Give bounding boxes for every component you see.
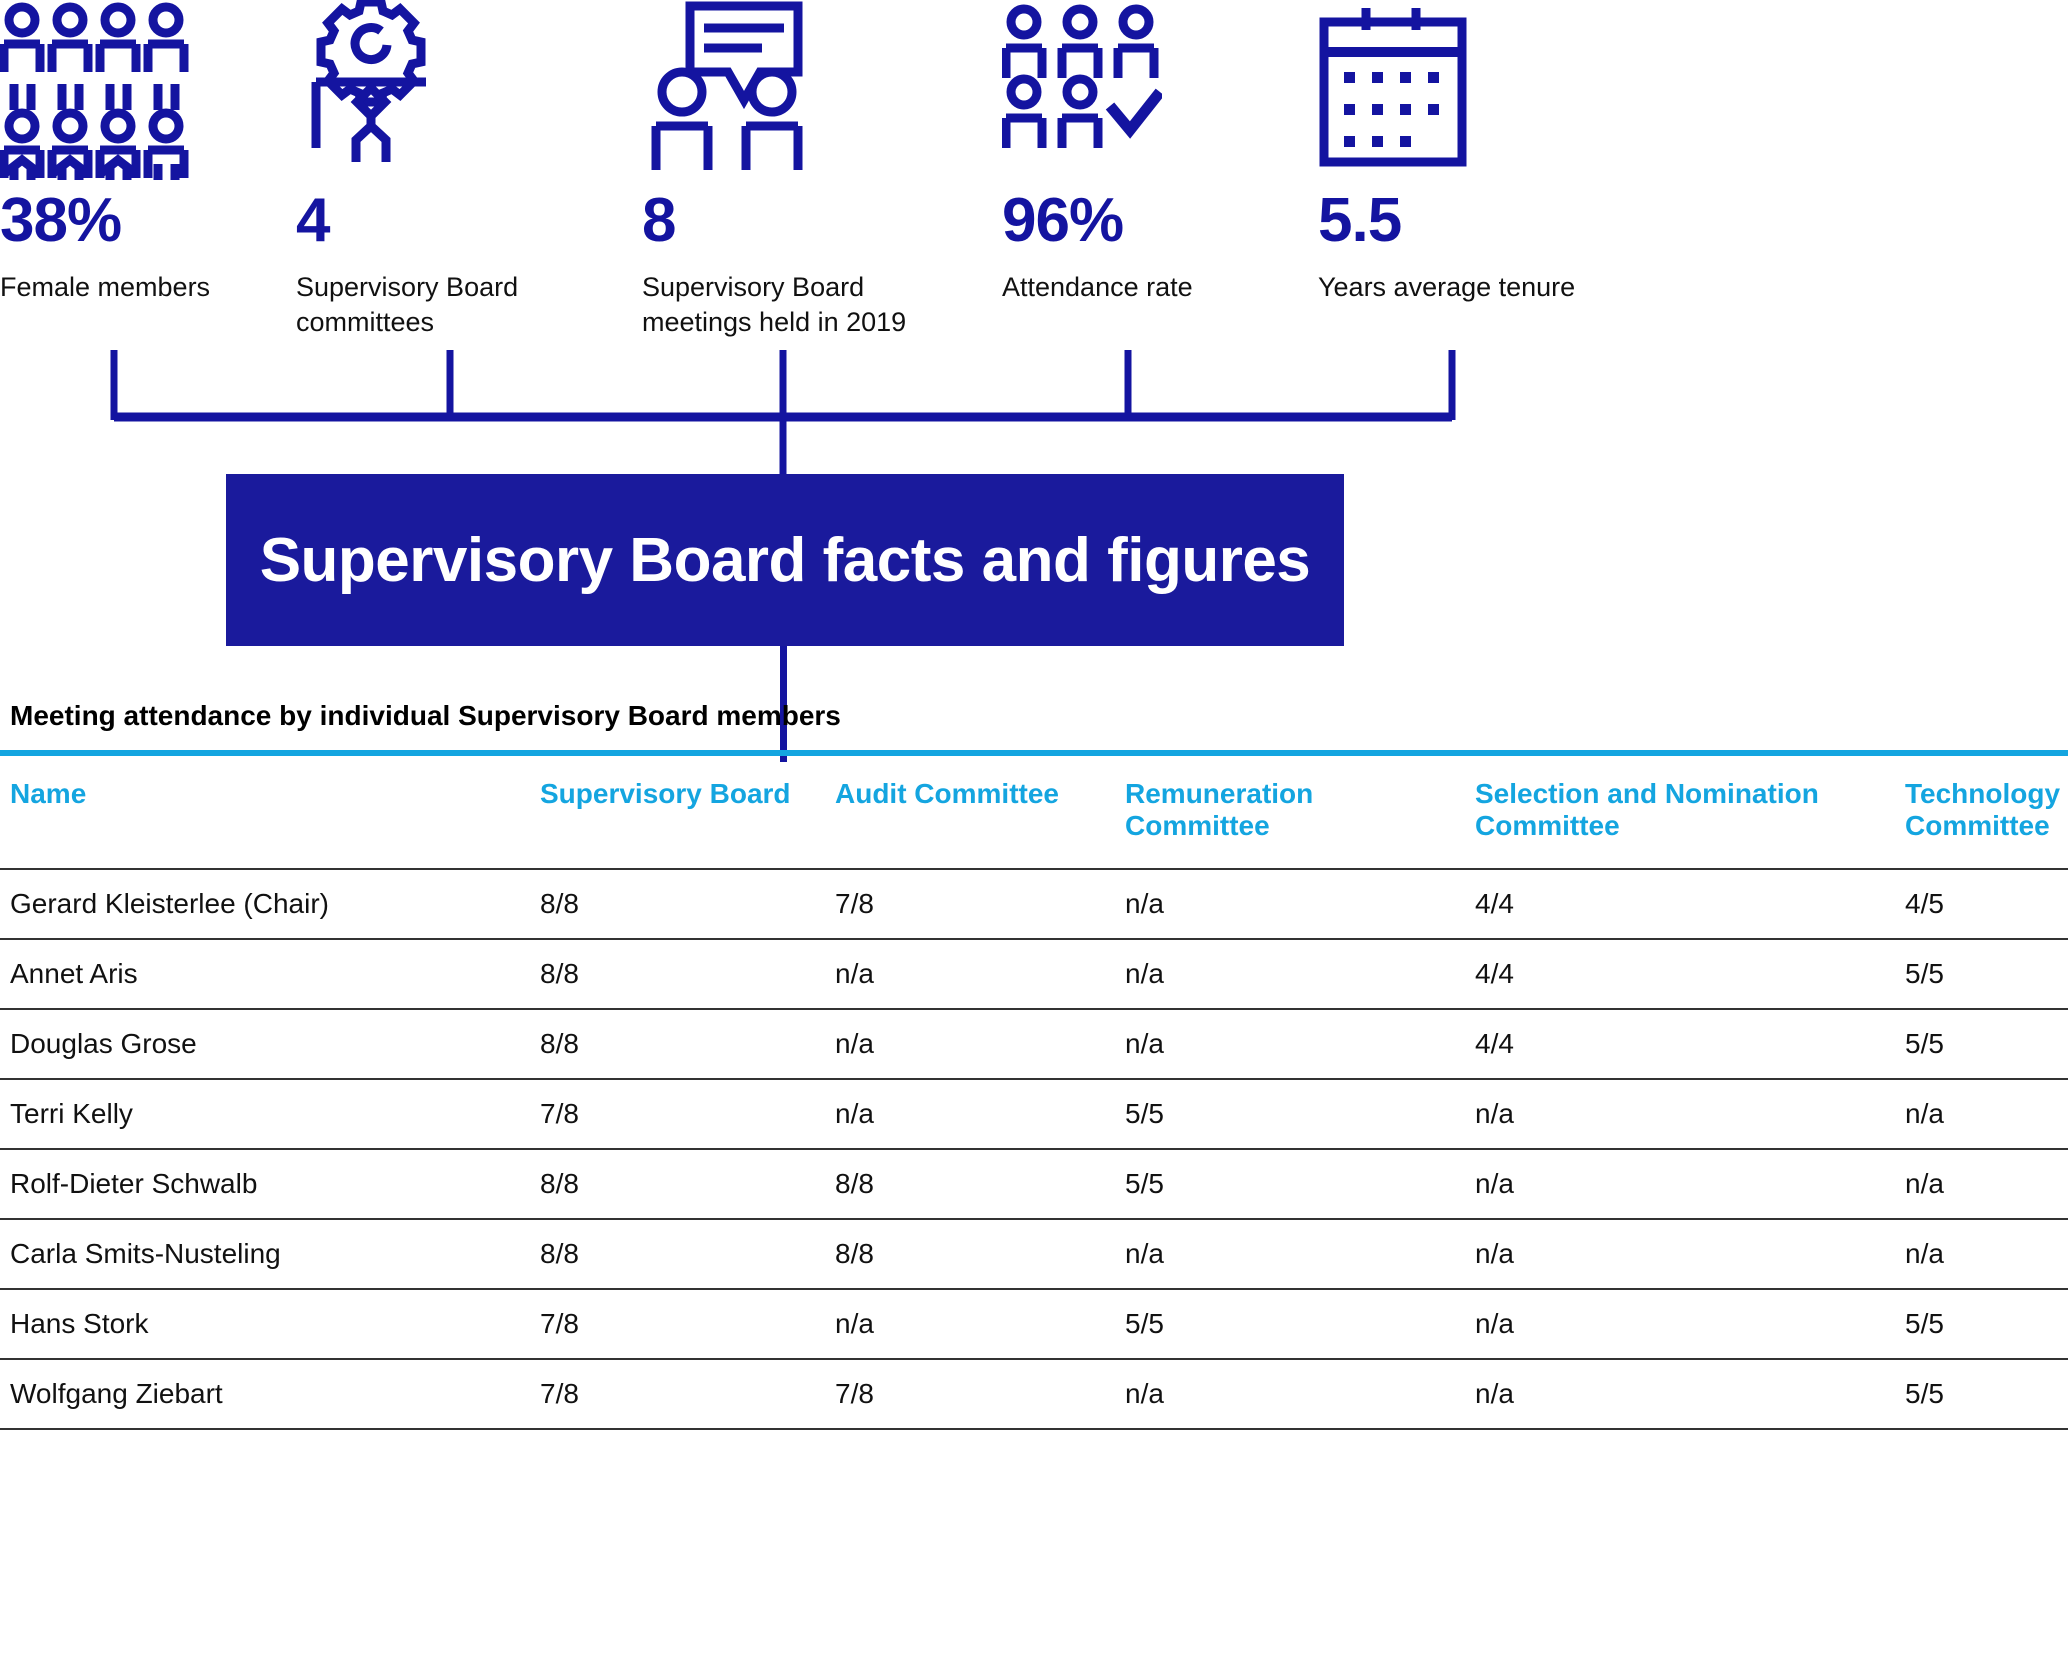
cell-audit: 7/8 xyxy=(825,869,1115,939)
stat-label: Supervisory Board meetings held in 2019 xyxy=(642,270,942,339)
cell-remuneration: n/a xyxy=(1115,1009,1465,1079)
cell-name: Wolfgang Ziebart xyxy=(0,1359,530,1429)
table-row: Terri Kelly 7/8 n/a 5/5 n/a n/a xyxy=(0,1079,2068,1149)
table-row: Annet Aris 8/8 n/a n/a 4/4 5/5 xyxy=(0,939,2068,1009)
cell-technology: n/a xyxy=(1895,1149,2068,1219)
column-header-remuneration[interactable]: Remuneration Committee xyxy=(1115,753,1465,869)
cell-selection-nomination: 4/4 xyxy=(1465,939,1895,1009)
attendance-table: Name Supervisory Board Audit Committee R… xyxy=(0,750,2068,1430)
stat-card-female-members: 38% Female members xyxy=(0,0,270,305)
page-title: Supervisory Board facts and figures xyxy=(260,525,1311,596)
cell-audit: n/a xyxy=(825,1079,1115,1149)
cell-audit: n/a xyxy=(825,1289,1115,1359)
cell-name: Annet Aris xyxy=(0,939,530,1009)
stat-card-tenure: 5.5 Years average tenure xyxy=(1318,0,1638,305)
cell-audit: 8/8 xyxy=(825,1149,1115,1219)
cell-technology: 5/5 xyxy=(1895,1289,2068,1359)
table-row: Gerard Kleisterlee (Chair) 8/8 7/8 n/a 4… xyxy=(0,869,2068,939)
gear-person-icon xyxy=(296,0,616,180)
calendar-icon xyxy=(1318,0,1638,180)
cell-name: Gerard Kleisterlee (Chair) xyxy=(0,869,530,939)
cell-selection-nomination: n/a xyxy=(1465,1079,1895,1149)
cell-remuneration: 5/5 xyxy=(1115,1079,1465,1149)
cell-supervisory-board: 8/8 xyxy=(530,939,825,1009)
stat-value: 38% xyxy=(0,190,270,252)
cell-selection-nomination: n/a xyxy=(1465,1289,1895,1359)
cell-remuneration: 5/5 xyxy=(1115,1289,1465,1359)
title-banner: Supervisory Board facts and figures xyxy=(226,474,1344,646)
cell-technology: 5/5 xyxy=(1895,1009,2068,1079)
table-row: Hans Stork 7/8 n/a 5/5 n/a 5/5 xyxy=(0,1289,2068,1359)
meeting-discussion-icon xyxy=(642,0,982,180)
cell-audit: 7/8 xyxy=(825,1359,1115,1429)
people-checkmark-icon xyxy=(1002,0,1302,180)
cell-technology: 4/5 xyxy=(1895,869,2068,939)
table-caption: Meeting attendance by individual Supervi… xyxy=(0,700,2068,750)
column-header-audit-committee[interactable]: Audit Committee xyxy=(825,753,1115,869)
table-row: Carla Smits-Nusteling 8/8 8/8 n/a n/a n/… xyxy=(0,1219,2068,1289)
column-header-technology[interactable]: Technology Committee xyxy=(1895,753,2068,869)
column-header-supervisory-board[interactable]: Supervisory Board xyxy=(530,753,825,869)
stat-card-attendance: 96% Attendance rate xyxy=(1002,0,1302,305)
stat-value: 5.5 xyxy=(1318,190,1638,252)
table-row: Douglas Grose 8/8 n/a n/a 4/4 5/5 xyxy=(0,1009,2068,1079)
cell-selection-nomination: n/a xyxy=(1465,1219,1895,1289)
stat-label: Attendance rate xyxy=(1002,270,1302,305)
cell-supervisory-board: 8/8 xyxy=(530,869,825,939)
stat-value: 8 xyxy=(642,190,982,252)
stat-card-committees: 4 Supervisory Board committees xyxy=(296,0,616,339)
cell-supervisory-board: 7/8 xyxy=(530,1359,825,1429)
stat-value: 4 xyxy=(296,190,616,252)
cell-technology: n/a xyxy=(1895,1079,2068,1149)
column-header-name[interactable]: Name xyxy=(0,753,530,869)
cell-selection-nomination: 4/4 xyxy=(1465,869,1895,939)
stat-label: Female members xyxy=(0,270,270,305)
cell-name: Carla Smits-Nusteling xyxy=(0,1219,530,1289)
cell-supervisory-board: 8/8 xyxy=(530,1219,825,1289)
cell-supervisory-board: 7/8 xyxy=(530,1289,825,1359)
table-header-row: Name Supervisory Board Audit Committee R… xyxy=(0,753,2068,869)
stat-card-meetings: 8 Supervisory Board meetings held in 201… xyxy=(642,0,982,339)
stat-label: Supervisory Board committees xyxy=(296,270,596,339)
attendance-table-section: Meeting attendance by individual Supervi… xyxy=(0,700,2068,1430)
cell-remuneration: n/a xyxy=(1115,1359,1465,1429)
cell-supervisory-board: 8/8 xyxy=(530,1009,825,1079)
cell-selection-nomination: n/a xyxy=(1465,1359,1895,1429)
people-group-icon xyxy=(0,0,270,180)
cell-audit: 8/8 xyxy=(825,1219,1115,1289)
cell-selection-nomination: n/a xyxy=(1465,1149,1895,1219)
cell-name: Hans Stork xyxy=(0,1289,530,1359)
cell-remuneration: n/a xyxy=(1115,939,1465,1009)
cell-selection-nomination: 4/4 xyxy=(1465,1009,1895,1079)
column-header-selection-nomination[interactable]: Selection and Nomination Committee xyxy=(1465,753,1895,869)
cell-supervisory-board: 8/8 xyxy=(530,1149,825,1219)
cell-name: Terri Kelly xyxy=(0,1079,530,1149)
cell-remuneration: n/a xyxy=(1115,1219,1465,1289)
cell-supervisory-board: 7/8 xyxy=(530,1079,825,1149)
cell-technology: 5/5 xyxy=(1895,939,2068,1009)
cell-technology: 5/5 xyxy=(1895,1359,2068,1429)
stat-label: Years average tenure xyxy=(1318,270,1618,305)
table-row: Rolf-Dieter Schwalb 8/8 8/8 5/5 n/a n/a xyxy=(0,1149,2068,1219)
cell-audit: n/a xyxy=(825,1009,1115,1079)
cell-remuneration: n/a xyxy=(1115,869,1465,939)
table-row: Wolfgang Ziebart 7/8 7/8 n/a n/a 5/5 xyxy=(0,1359,2068,1429)
cell-name: Douglas Grose xyxy=(0,1009,530,1079)
cell-name: Rolf-Dieter Schwalb xyxy=(0,1149,530,1219)
cell-audit: n/a xyxy=(825,939,1115,1009)
cell-technology: n/a xyxy=(1895,1219,2068,1289)
stat-value: 96% xyxy=(1002,190,1302,252)
cell-remuneration: 5/5 xyxy=(1115,1149,1465,1219)
